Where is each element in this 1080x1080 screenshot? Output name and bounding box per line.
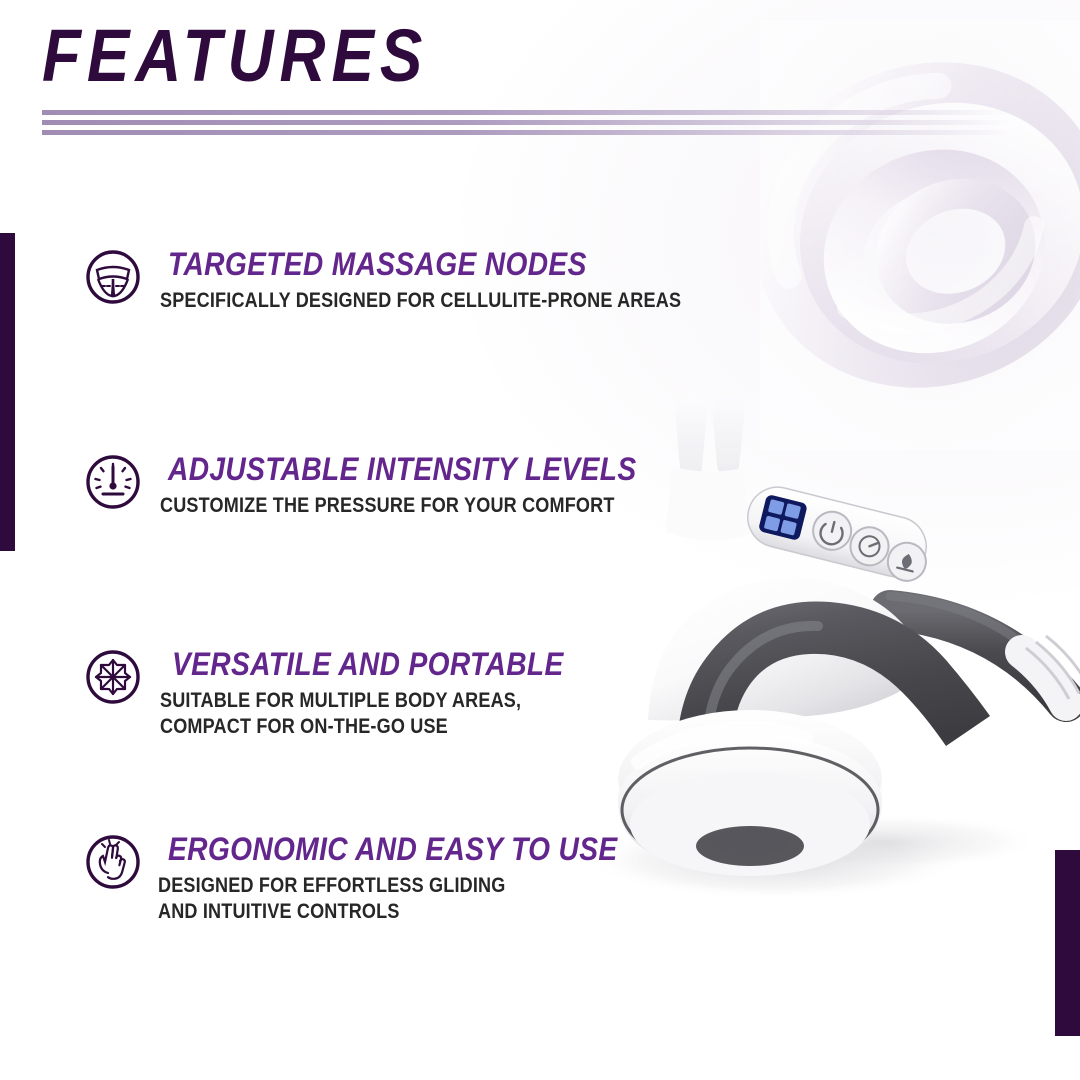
feature-text-2: ADJUSTABLE INTENSITY LEVELS CUSTOMIZE TH…: [168, 451, 700, 519]
infographic-canvas: FEATURES: [0, 0, 1080, 1080]
feature-text-3: VERSATILE AND PORTABLE SUITABLE FOR MULT…: [172, 646, 617, 740]
body-contour-icon: [84, 248, 142, 306]
feature-item-targeted-massage-nodes: TARGETED MASSAGE NODES SPECIFICALLY DESI…: [84, 246, 766, 314]
multi-direction-burst-icon: [84, 648, 142, 706]
speed-button: [846, 523, 892, 569]
lcd-display: [758, 494, 808, 541]
feature-item-ergonomic-and-easy-to-use: ERGONOMIC AND EASY TO USE DESIGNED FOR E…: [84, 831, 679, 925]
feature-subtext: SPECIFICALLY DESIGNED FOR CELLULITE-PRON…: [160, 288, 681, 314]
product-control-panel: [741, 481, 933, 585]
feature-subtext: DESIGNED FOR EFFORTLESS GLIDING AND INTU…: [158, 873, 606, 925]
product-handle: [677, 601, 990, 810]
feature-subtext-line: COMPACT FOR ON-THE-GO USE: [160, 714, 553, 740]
cord-strain-relief: [1022, 636, 1080, 704]
feature-subtext: SUITABLE FOR MULTIPLE BODY AREAS, COMPAC…: [160, 688, 553, 740]
feature-text-1: TARGETED MASSAGE NODES SPECIFICALLY DESI…: [168, 246, 766, 314]
features-list: TARGETED MASSAGE NODES SPECIFICALLY DESI…: [0, 0, 700, 1080]
feature-subtext-line: DESIGNED FOR EFFORTLESS GLIDING: [158, 873, 606, 899]
feature-heading: ERGONOMIC AND EASY TO USE: [168, 831, 618, 867]
feature-heading: ADJUSTABLE INTENSITY LEVELS: [168, 451, 636, 487]
feature-subtext: CUSTOMIZE THE PRESSURE FOR YOUR COMFORT: [160, 493, 625, 519]
power-button: [809, 508, 855, 554]
gauge-icon: [84, 453, 142, 511]
feature-item-adjustable-intensity-levels: ADJUSTABLE INTENSITY LEVELS CUSTOMIZE TH…: [84, 451, 700, 519]
feature-item-versatile-and-portable: VERSATILE AND PORTABLE SUITABLE FOR MULT…: [84, 646, 617, 740]
feature-subtext-line: SUITABLE FOR MULTIPLE BODY AREAS,: [160, 688, 553, 714]
spiral-ribbon-icon: [760, 20, 1080, 450]
feature-subtext-line: AND INTUITIVE CONTROLS: [158, 899, 606, 925]
heat-button: [884, 539, 930, 585]
feature-heading: TARGETED MASSAGE NODES: [168, 246, 694, 282]
feature-subtext-line: CUSTOMIZE THE PRESSURE FOR YOUR COMFORT: [160, 493, 625, 519]
feature-text-4: ERGONOMIC AND EASY TO USE DESIGNED FOR E…: [168, 831, 679, 925]
feature-subtext-line: SPECIFICALLY DESIGNED FOR CELLULITE-PRON…: [160, 288, 681, 314]
feature-heading: VERSATILE AND PORTABLE: [172, 646, 564, 682]
hand-gesture-icon: [84, 833, 142, 891]
power-cord: [890, 596, 1080, 704]
right-accent-bar: [1055, 850, 1080, 1036]
